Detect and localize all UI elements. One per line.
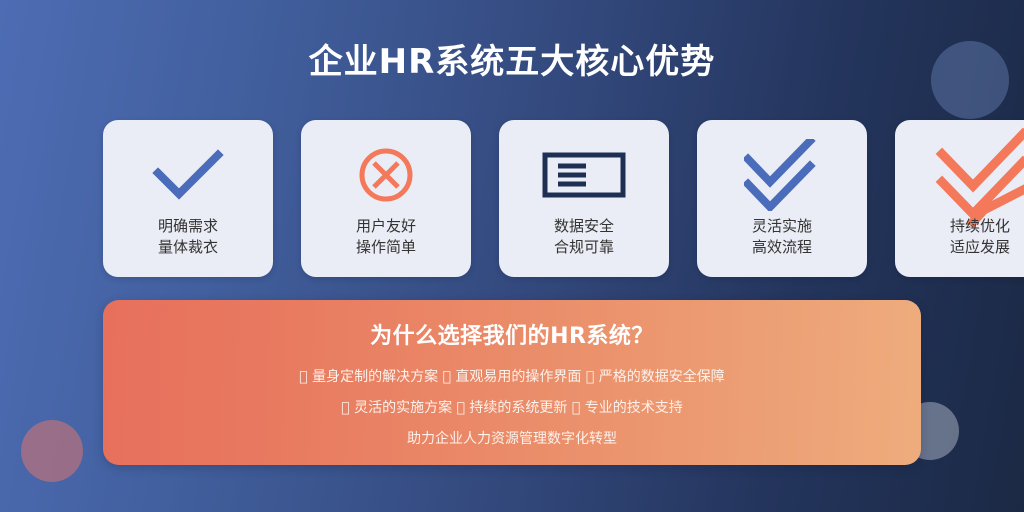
triple-check-icon [895,130,1024,226]
double-check-icon [697,138,867,212]
feature-card-row: 明确需求 量体裁衣 用户友好 操作简单 [103,120,1024,277]
feature-card-5-label: 持续优化 适应发展 [895,216,1024,258]
feature-card-1-label: 明确需求 量体裁衣 [103,216,273,258]
panel-heading: 为什么选择我们的HR系统？ [103,318,921,350]
circle-x-icon [301,138,471,212]
check-icon [103,138,273,212]
panel-line-1: 􀆅 量身定制的解决方案 􀆅 直观易用的操作界面 􀆅 严格的数据安全保障 [103,362,921,393]
decorative-circle-bottom-left [21,420,83,482]
feature-card-5[interactable]: 持续优化 适应发展 [895,120,1024,277]
panel-line-2: 􀆅 灵活的实施方案 􀆅 持续的系统更新 􀆅 专业的技术支持 [103,393,921,424]
feature-card-2-label: 用户友好 操作简单 [301,216,471,258]
feature-card-1[interactable]: 明确需求 量体裁衣 [103,120,273,277]
panel-body: 􀆅 量身定制的解决方案 􀆅 直观易用的操作界面 􀆅 严格的数据安全保障 􀆅 灵活… [103,362,921,455]
feature-card-3-label: 数据安全 合规可靠 [499,216,669,258]
feature-card-4[interactable]: 灵活实施 高效流程 [697,120,867,277]
feature-card-3[interactable]: 数据安全 合规可靠 [499,120,669,277]
infographic-canvas: 企业HR系统五大核心优势 明确需求 量体裁衣 用户友好 操作简单 [0,0,1024,512]
document-lines-icon [499,138,669,212]
page-title: 企业HR系统五大核心优势 [0,40,1024,84]
feature-card-2[interactable]: 用户友好 操作简单 [301,120,471,277]
why-choose-panel: 为什么选择我们的HR系统？ 􀆅 量身定制的解决方案 􀆅 直观易用的操作界面 􀆅 … [103,300,921,465]
feature-card-4-label: 灵活实施 高效流程 [697,216,867,258]
panel-line-3: 助力企业人力资源管理数字化转型 [103,424,921,455]
